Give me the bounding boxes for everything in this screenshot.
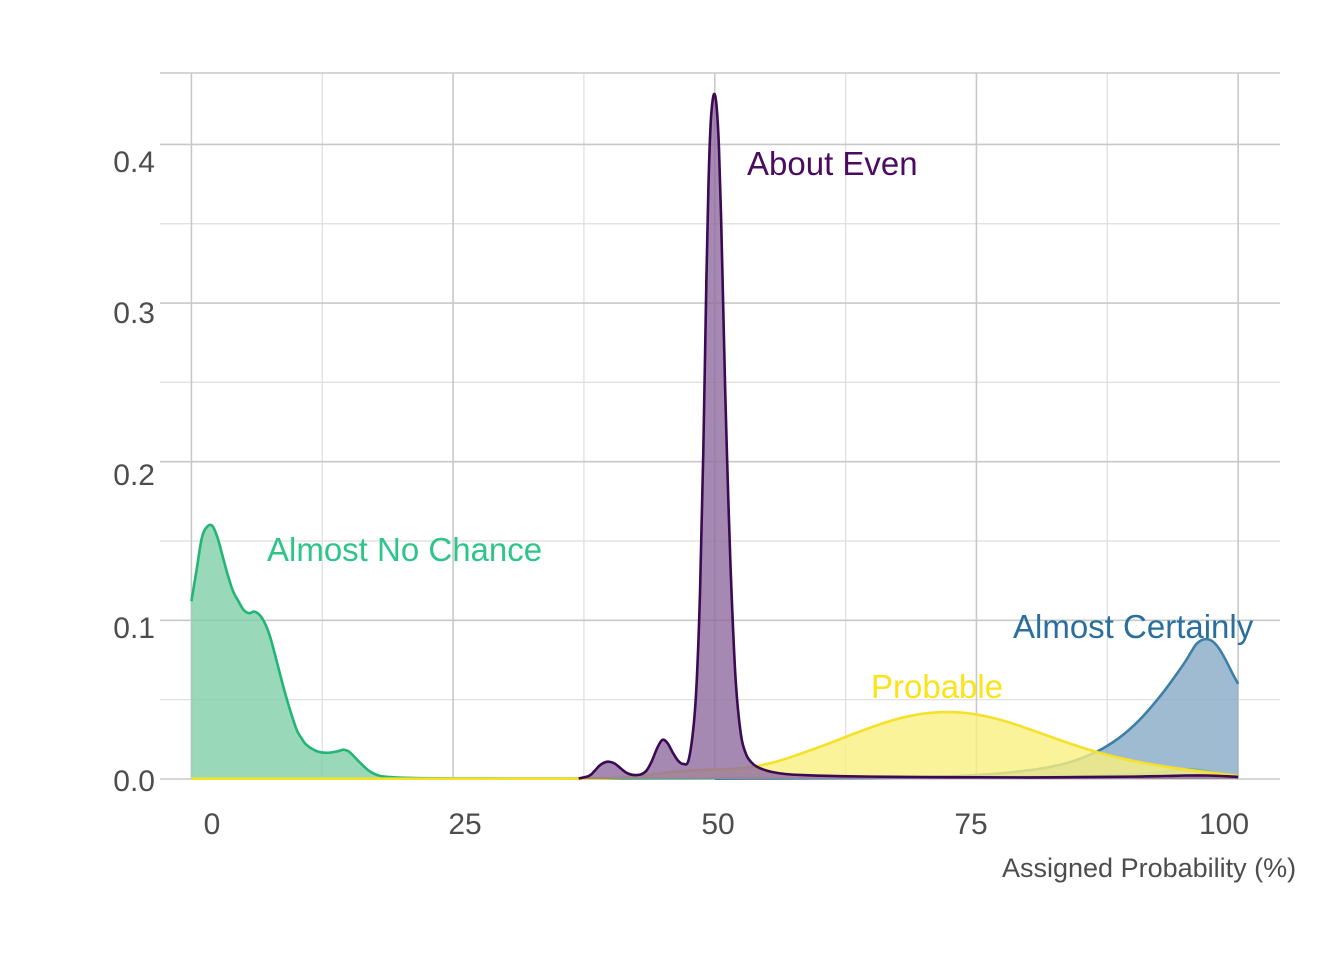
y-tick-label-0.2: 0.2 bbox=[60, 459, 155, 493]
series-label-probable: Probable bbox=[871, 668, 1003, 706]
x-tick-label-75: 75 bbox=[931, 808, 1011, 842]
y-tick-label-0.4: 0.4 bbox=[60, 146, 155, 180]
x-tick-label-100: 100 bbox=[1184, 808, 1264, 842]
series-label-almost-no-chance: Almost No Chance bbox=[267, 531, 542, 569]
density-plot-figure: 0.4 0.3 0.2 0.1 0.0 0 25 50 75 100 Assig… bbox=[0, 0, 1344, 960]
y-tick-label-0.1: 0.1 bbox=[60, 612, 155, 646]
x-tick-label-0: 0 bbox=[172, 808, 252, 842]
x-axis-title: Assigned Probability (%) bbox=[1002, 853, 1296, 884]
y-tick-label-0.3: 0.3 bbox=[60, 297, 155, 331]
x-tick-label-25: 25 bbox=[425, 808, 505, 842]
x-tick-label-50: 50 bbox=[678, 808, 758, 842]
series-label-almost-certainly: Almost Certainly bbox=[1013, 608, 1253, 646]
series-label-about-even: About Even bbox=[747, 145, 918, 183]
y-tick-label-0.0: 0.0 bbox=[60, 765, 155, 799]
